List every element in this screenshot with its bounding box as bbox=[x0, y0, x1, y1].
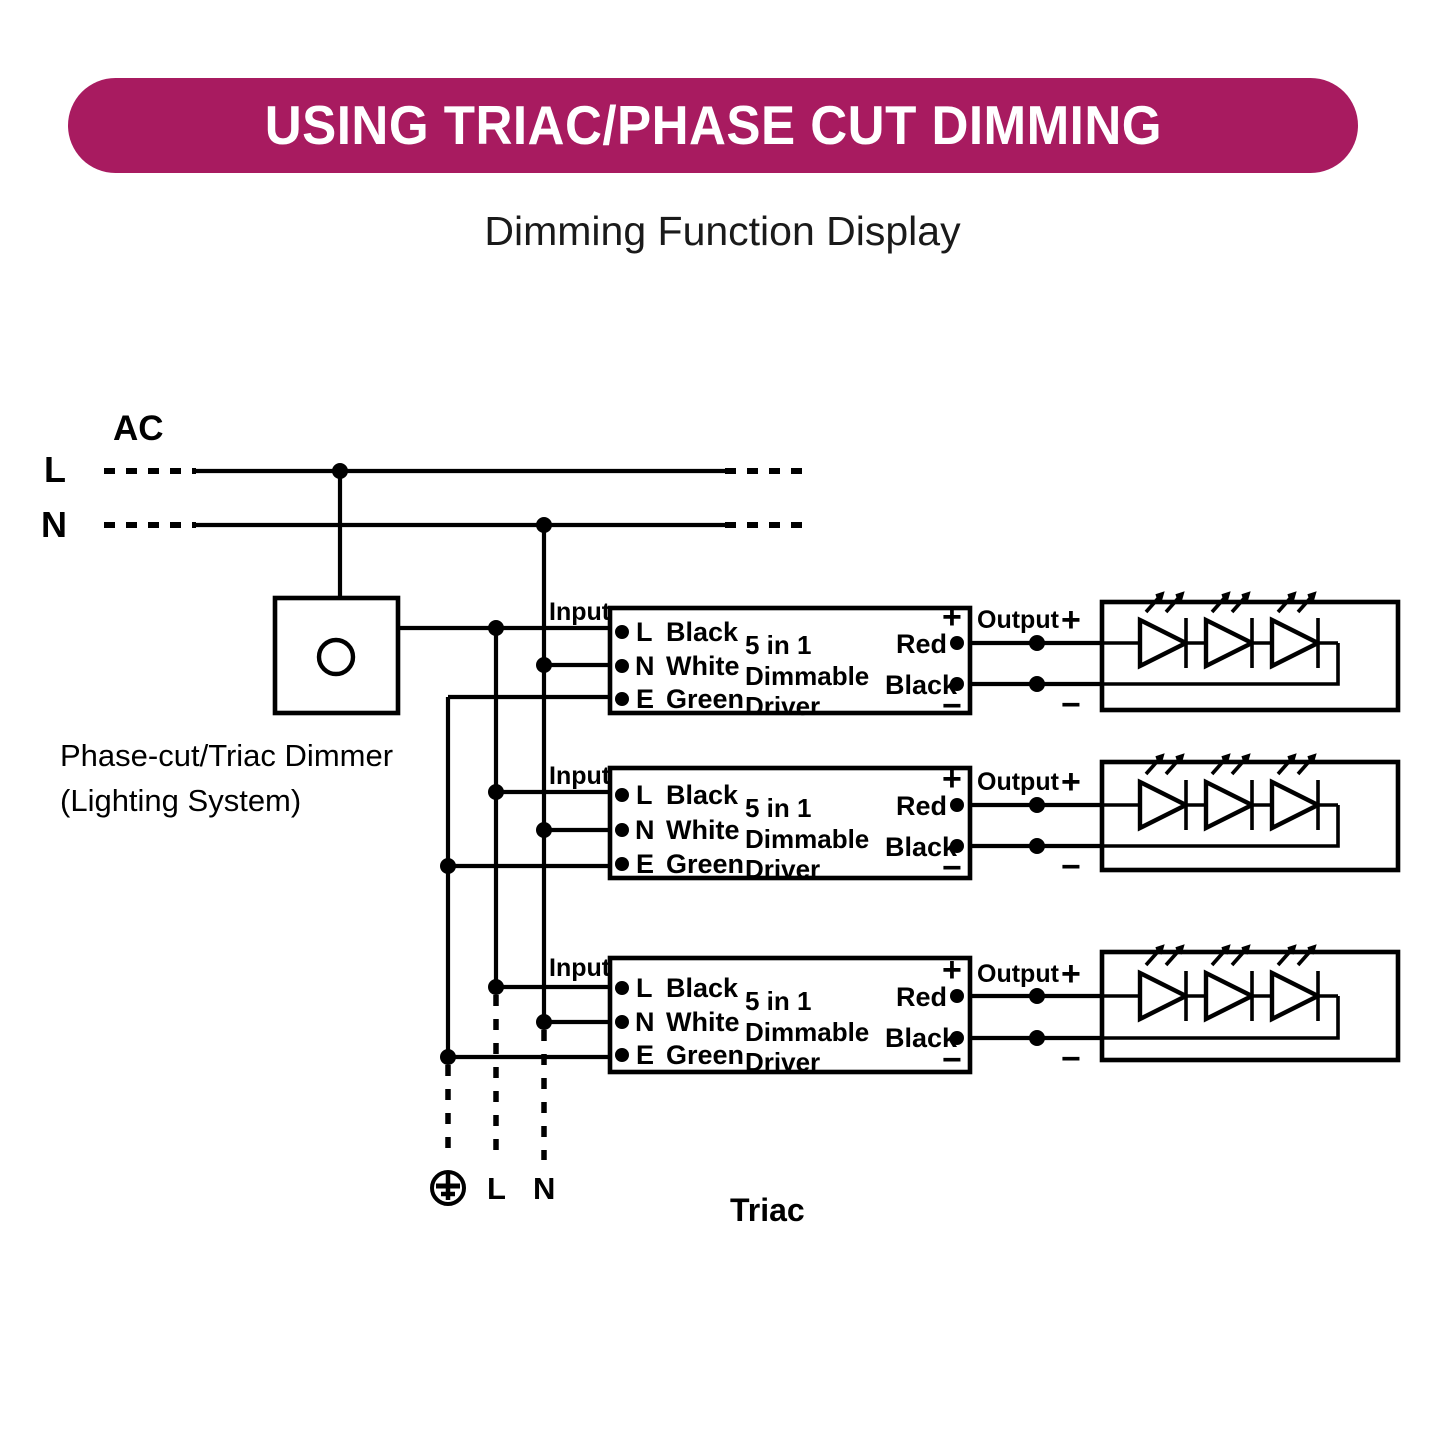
driver-3-title-2: Dimmable bbox=[745, 1017, 869, 1048]
driver-3-output-minus: − bbox=[942, 1043, 962, 1077]
led-2-plus: + bbox=[1061, 765, 1081, 799]
diagram-bottom-caption: Triac bbox=[730, 1194, 805, 1226]
driver-1-terminal-l: L bbox=[636, 619, 653, 646]
driver-1-title-2: Dimmable bbox=[745, 661, 869, 692]
driver-3-output-label: Output bbox=[977, 962, 1059, 987]
driver-2-terminal-l: L bbox=[636, 782, 653, 809]
live-line-label: L bbox=[44, 452, 66, 488]
driver-1-terminal-e: E bbox=[636, 686, 654, 713]
driver-3-terminal-l-wire: Black bbox=[666, 975, 738, 1002]
led-3-plus: + bbox=[1061, 957, 1081, 991]
driver-1-terminal-e-wire: Green bbox=[666, 686, 744, 713]
driver-2-terminal-l-wire: Black bbox=[666, 782, 738, 809]
driver-2-title-2: Dimmable bbox=[745, 824, 869, 855]
driver-3-input-label: Input bbox=[549, 956, 610, 981]
diagram-page: USING TRIAC/PHASE CUT DIMMING Dimming Fu… bbox=[0, 0, 1445, 1445]
driver-2-title-1: 5 in 1 bbox=[745, 793, 869, 824]
driver-1-terminal-n-wire: White bbox=[666, 653, 740, 680]
driver-3-title-3: Driver bbox=[745, 1047, 869, 1078]
driver-1-output-minus: − bbox=[942, 689, 962, 723]
driver-2-terminal-e-wire: Green bbox=[666, 851, 744, 878]
driver-1-terminal-l-wire: Black bbox=[666, 619, 738, 646]
driver-2-title-3: Driver bbox=[745, 854, 869, 885]
round-knob-icon bbox=[319, 640, 353, 674]
led-2-minus: − bbox=[1061, 850, 1081, 884]
bus-terminal-label-l: L bbox=[487, 1173, 506, 1204]
ac-live-bus bbox=[104, 463, 812, 598]
driver-3-terminal-n: N bbox=[635, 1009, 655, 1036]
ac-supply-label: AC bbox=[113, 411, 164, 446]
driver-2-input-label: Input bbox=[549, 764, 610, 789]
led-1-minus: − bbox=[1061, 688, 1081, 722]
driver-1-terminal-n: N bbox=[635, 653, 655, 680]
driver-2-output-minus: − bbox=[942, 851, 962, 885]
driver-3-terminal-n-wire: White bbox=[666, 1009, 740, 1036]
driver-2-terminal-n-wire: White bbox=[666, 817, 740, 844]
phase-cut-dimmer-box[interactable] bbox=[275, 598, 398, 713]
driver-1-input-label: Input bbox=[549, 600, 610, 625]
driver-3-output-red: Red bbox=[896, 984, 947, 1011]
dimmer-caption-line1: Phase-cut/Triac Dimmer bbox=[60, 740, 393, 771]
driver-2-output-red: Red bbox=[896, 793, 947, 820]
driver-1-output-label: Output bbox=[977, 608, 1059, 633]
led-3-minus: − bbox=[1061, 1042, 1081, 1076]
driver-1-title-1: 5 in 1 bbox=[745, 630, 869, 661]
live-bus bbox=[488, 620, 504, 1160]
driver-3-terminal-e-wire: Green bbox=[666, 1042, 744, 1069]
bus-terminal-label-n: N bbox=[533, 1173, 555, 1204]
driver-2-terminal-e: E bbox=[636, 851, 654, 878]
driver-2-output-label: Output bbox=[977, 770, 1059, 795]
driver-2-terminal-n: N bbox=[635, 817, 655, 844]
driver-3-terminal-l: L bbox=[636, 975, 653, 1002]
ac-neutral-bus bbox=[104, 517, 812, 533]
earth-bus bbox=[440, 697, 456, 1160]
driver-3-title-1: 5 in 1 bbox=[745, 986, 869, 1017]
earth-ground-icon bbox=[432, 1172, 464, 1204]
driver-1-title-3: Driver bbox=[745, 691, 869, 722]
led-1-plus: + bbox=[1061, 603, 1081, 637]
wiring-diagram bbox=[0, 0, 1445, 1445]
neutral-line-label: N bbox=[41, 507, 67, 543]
driver-3-terminal-e: E bbox=[636, 1042, 654, 1069]
dimmer-caption-line2: (Lighting System) bbox=[60, 785, 301, 816]
driver-1-output-red: Red bbox=[896, 631, 947, 658]
